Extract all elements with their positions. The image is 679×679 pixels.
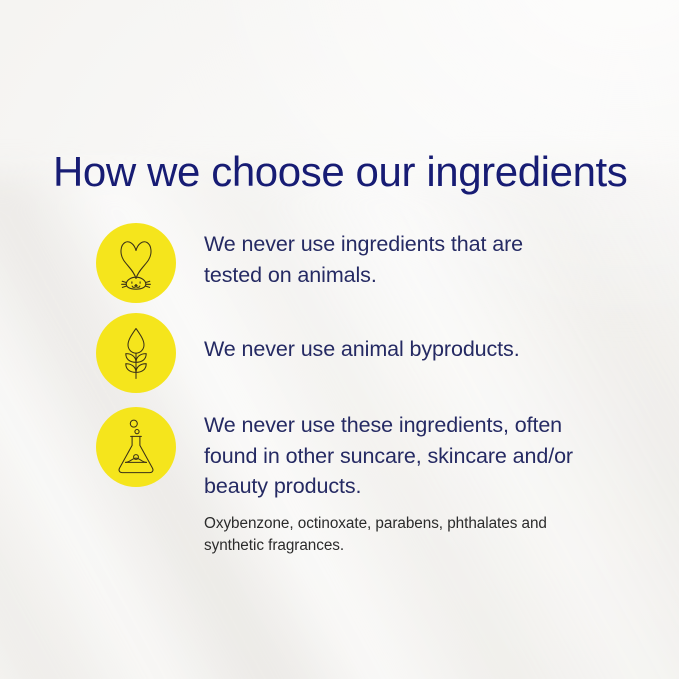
claim-item-no-harmful-ingredients: We never use these ingredients, often fo… (96, 407, 616, 558)
claim-text: We never use ingredients that are tested… (204, 229, 564, 290)
page-title: How we choose our ingredients (53, 149, 627, 194)
content-layer: How we choose our ingredients (0, 0, 679, 679)
erlenmeyer-flask-icon (96, 407, 176, 487)
plant-sprig-icon (96, 313, 176, 393)
claim-body: We never use ingredients that are tested… (176, 223, 564, 290)
claim-text: We never use animal byproducts. (204, 334, 520, 365)
claim-item-cruelty-free: We never use ingredients that are tested… (96, 223, 616, 303)
bunny-heart-ears-icon (96, 223, 176, 303)
claim-text: We never use these ingredients, often fo… (204, 410, 604, 502)
claim-body: We never use these ingredients, often fo… (176, 407, 604, 558)
claim-note: Oxybenzone, octinoxate, parabens, phthal… (204, 513, 564, 558)
infographic-panel: How we choose our ingredients (0, 0, 679, 679)
claim-item-no-animal-byproducts: We never use animal byproducts. (96, 313, 616, 393)
claim-body: We never use animal byproducts. (176, 313, 520, 365)
claims-list: We never use ingredients that are tested… (96, 223, 616, 558)
